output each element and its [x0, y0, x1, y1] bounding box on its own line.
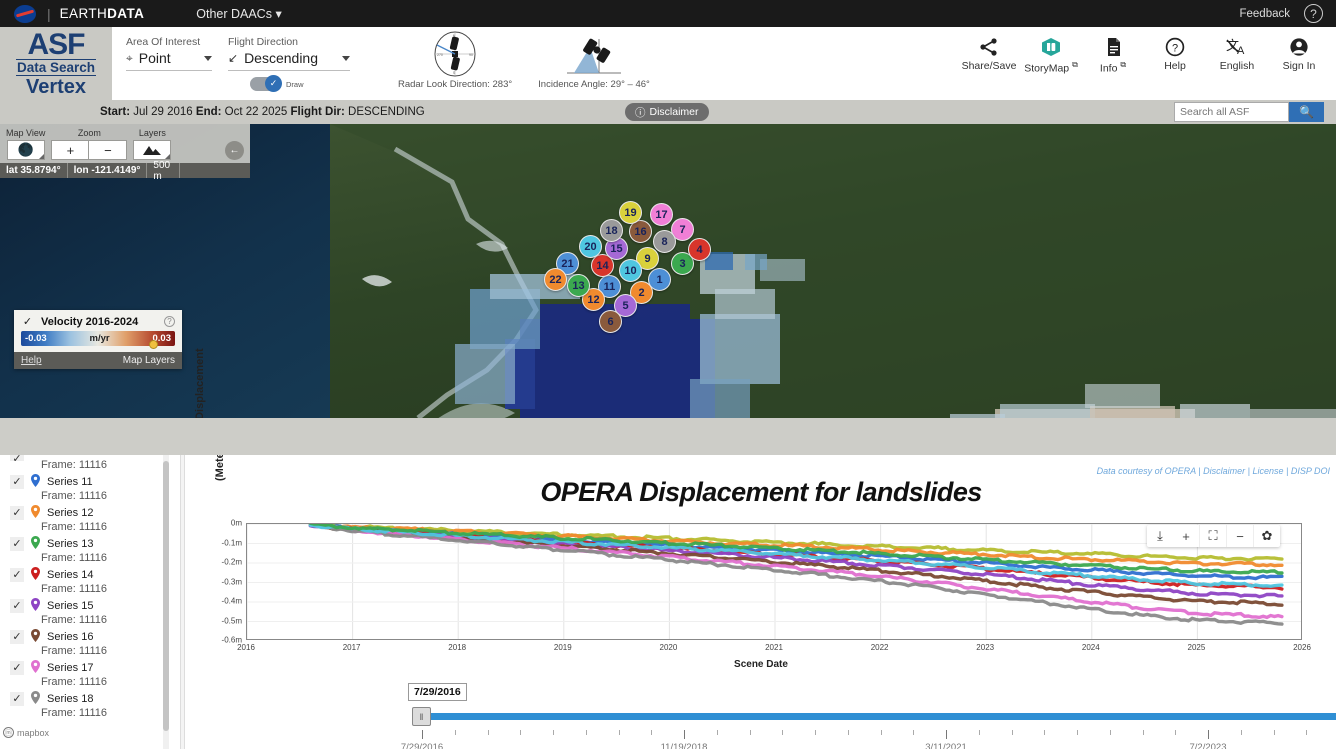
velocity-layer-checkbox[interactable]: ✓: [21, 315, 34, 328]
feedback-link[interactable]: Feedback: [1239, 8, 1290, 20]
x-axis-tick: 2022: [871, 643, 889, 652]
draw-label: Draw: [286, 80, 304, 89]
header-toolbar: Share/Save StoryMap ⧉ Info ⧉: [958, 27, 1336, 75]
velocity-gradient-wrapper: -0.03 m/yr 0.03: [14, 331, 182, 352]
velocity-layer-title: Velocity 2016-2024: [41, 316, 138, 328]
timeline-tick: [913, 730, 914, 735]
x-axis-tick: 2019: [554, 643, 572, 652]
plot-wrapper: ⤓+⛶−✿ 0m-0.1m-0.2m-0.3m-0.4m-0.5m-0.6m20…: [246, 523, 1302, 640]
radar-look-direction-widget: N S 270 90 Radar Look Direction: 283°: [398, 31, 512, 90]
series-frame-label: Frame: 11116: [10, 521, 172, 533]
series-pin-icon: [31, 629, 40, 644]
timeline-date-label: 7/29/2016: [401, 742, 443, 749]
velocity-unit-label: m/yr: [90, 333, 110, 344]
map-marker-22[interactable]: 22: [544, 268, 567, 291]
other-daacs-label: Other DAACs: [196, 7, 272, 21]
share-save-button[interactable]: Share/Save: [958, 37, 1020, 72]
flight-direction-label: Flight Direction: [228, 36, 350, 48]
series-pin-icon: [31, 536, 40, 551]
series-label: Series 12: [47, 507, 93, 519]
info-circle-icon: ⓘ: [635, 105, 646, 120]
date-range-slider: 7/29/2016 10/22/2025 ‖ ‖ 7/29/201611/19/…: [372, 683, 1336, 749]
y-axis-tick: 0m: [202, 519, 242, 528]
external-link-icon: ⧉: [1072, 60, 1078, 69]
timeline-date-label: 3/11/2021: [925, 742, 967, 749]
timeline-tick: [717, 730, 718, 735]
autoscale-icon[interactable]: ⛶: [1200, 525, 1227, 547]
series-list-item[interactable]: ✓Series 18Frame: 11116: [0, 688, 172, 719]
x-axis-tick: 2025: [1187, 643, 1205, 652]
search-icon: 🔍: [1299, 105, 1314, 119]
settings-gear-icon[interactable]: ✿: [1254, 525, 1280, 547]
help-label: Help: [1164, 60, 1186, 72]
descending-arrow-icon: ↙: [228, 51, 238, 65]
timeline-tick: [553, 730, 554, 735]
series-frame-label: Frame: 11116: [10, 676, 172, 688]
timeline-tick: [488, 730, 489, 735]
logo-vertex-text: Vertex: [26, 76, 86, 98]
x-axis-tick: 2024: [1082, 643, 1100, 652]
timeline-tick: [979, 730, 980, 735]
series-label: Series 16: [47, 631, 93, 643]
series-list-item[interactable]: ✓Series 11Frame: 11116: [0, 471, 172, 502]
series-row-main: ✓Series 14: [10, 564, 172, 585]
map-marker-17[interactable]: 17: [650, 203, 673, 226]
divider: |: [47, 6, 51, 22]
y-axis-tick: -0.4m: [202, 597, 242, 606]
displacement-line-chart: [247, 524, 1302, 640]
timeline-tick: [1044, 730, 1045, 735]
series-frame-label: Frame: 11116: [10, 614, 172, 626]
incidence-angle-caption: Incidence Angle: 29° – 46°: [538, 79, 650, 90]
zoom-group: Zoom + −: [51, 128, 127, 160]
geometry-diagrams: N S 270 90 Radar Look Direction: 283° In…: [398, 31, 650, 90]
help-circle-icon[interactable]: ?: [1304, 4, 1323, 23]
timeline-axis: 7/29/201611/19/20183/11/20217/2/202310/2…: [422, 730, 1336, 731]
x-axis-tick: 2023: [976, 643, 994, 652]
zoom-out-icon[interactable]: −: [1227, 525, 1254, 547]
map-view-group: Map View 🌑: [6, 128, 45, 160]
x-axis-tick: 2017: [343, 643, 361, 652]
series-checkbox[interactable]: ✓: [10, 692, 24, 706]
external-link-icon: ⧉: [1120, 60, 1126, 69]
panel-resize-divider[interactable]: [180, 455, 185, 749]
sign-in-button[interactable]: Sign In: [1268, 37, 1330, 72]
plot-toolbar: ⤓+⛶−✿: [1147, 525, 1280, 547]
translate-icon: 文 A: [1225, 37, 1249, 57]
bottom-panel: ✓Frame: 11116✓Series 11Frame: 11116✓Seri…: [0, 455, 1336, 749]
series-row-main: ✓Series 15: [10, 595, 172, 616]
logo-datasearch-text: Data Search: [16, 59, 96, 77]
storymap-button[interactable]: StoryMap ⧉: [1020, 37, 1082, 75]
map-controls-panel: Map View 🌑 Zoom + − Layers: [0, 124, 250, 178]
search-button[interactable]: 🔍: [1289, 102, 1324, 122]
series-frame-label: Frame: 11116: [10, 552, 172, 564]
timeline-tick: [1241, 730, 1242, 735]
series-row-main: ✓Series 13: [10, 533, 172, 554]
earthdata-bold: DATA: [107, 6, 144, 21]
series-checkbox[interactable]: ✓: [10, 506, 24, 520]
series-label: Series 13: [47, 538, 93, 550]
map-marker-4[interactable]: 4: [688, 238, 711, 261]
coordinate-readout-row: lat 35.8794° lon -121.4149° 500 m: [0, 163, 250, 178]
nasa-logo-icon: [14, 5, 36, 23]
x-axis-tick: 2020: [659, 643, 677, 652]
y-axis-tick: -0.1m: [202, 538, 242, 547]
timeline-tick: [1110, 730, 1111, 735]
flight-direction-value: Descending: [244, 50, 318, 66]
series-label: Series 11: [47, 476, 93, 488]
language-label: English: [1220, 60, 1254, 72]
series-pin-icon: [31, 691, 40, 706]
download-icon[interactable]: ⤓: [1147, 525, 1173, 547]
mapbox-label: mapbox: [17, 728, 49, 738]
timeline-tick: [684, 730, 685, 739]
series-list[interactable]: ✓Frame: 11116✓Series 11Frame: 11116✓Seri…: [0, 455, 172, 749]
zoom-in-icon[interactable]: +: [1173, 525, 1200, 547]
series-frame-label: Frame: 11116: [10, 490, 172, 502]
series-label: Series 17: [47, 662, 93, 674]
storymap-label: StoryMap ⧉: [1024, 60, 1078, 75]
y-axis-tick: -0.2m: [202, 558, 242, 567]
start-value: Jul 29 2016: [133, 106, 192, 118]
info-text: Info: [1100, 63, 1118, 75]
timeline-tick: [782, 730, 783, 735]
timeline-tick: [1143, 730, 1144, 735]
series-row-main: ✓Series 18: [10, 688, 172, 709]
series-checkbox[interactable]: ✓: [10, 537, 24, 551]
earthdata-light: EARTH: [60, 6, 108, 21]
mapbox-attribution[interactable]: ⓜ mapbox: [3, 727, 49, 738]
x-axis-tick: 2026: [1293, 643, 1311, 652]
map-layers-link[interactable]: Map Layers: [123, 355, 175, 366]
filter-bar: Area Of Interest ⌖ Point Flight Directio…: [112, 27, 1336, 100]
x-axis-tick: 2016: [237, 643, 255, 652]
timeline-tick: [1274, 730, 1275, 735]
svg-text:90: 90: [469, 53, 473, 57]
search-input[interactable]: [1174, 102, 1289, 122]
disclaimer-button[interactable]: ⓘ Disclaimer: [625, 103, 709, 121]
series-list-item[interactable]: ✓Series 13Frame: 11116: [0, 533, 172, 564]
incidence-angle-widget: Incidence Angle: 29° – 46°: [538, 31, 650, 90]
satellite-icon: [559, 31, 629, 77]
data-credits-links[interactable]: Data courtesy of OPERA | Disclaimer | Li…: [1097, 466, 1330, 476]
zoom-in-button[interactable]: +: [51, 140, 89, 160]
zoom-buttons: + −: [51, 140, 127, 160]
aoi-value: Point: [139, 50, 171, 66]
help-button[interactable]: ? Help: [1144, 37, 1206, 72]
x-axis-tick: 2021: [765, 643, 783, 652]
timeline-tick: [520, 730, 521, 735]
earthdata-bar-right: Feedback ?: [1239, 4, 1336, 23]
globe-icon: 🌑: [18, 142, 34, 158]
layers-buttons: [133, 140, 171, 160]
series-label: Series 14: [47, 569, 93, 581]
series-list-item[interactable]: ✓Frame: 11116: [0, 455, 172, 471]
timeline-tick: [619, 730, 620, 735]
series-checkbox[interactable]: ✓: [10, 568, 24, 582]
plot-area[interactable]: [246, 523, 1302, 640]
timeline-tick: [1012, 730, 1013, 735]
velocity-color-scale[interactable]: -0.03 m/yr 0.03: [21, 331, 175, 346]
series-checkbox[interactable]: ✓: [10, 599, 24, 613]
timeline-tick: [455, 730, 456, 735]
y-axis-tick: -0.5m: [202, 616, 242, 625]
map-marker-6[interactable]: 6: [599, 310, 622, 333]
end-key: End:: [196, 106, 222, 118]
aoi-label: Area Of Interest: [126, 36, 212, 48]
map-marker-13[interactable]: 13: [567, 274, 590, 297]
timeline-tick: [1077, 730, 1078, 735]
series-checkbox[interactable]: ✓: [10, 630, 24, 644]
series-row-main: ✓Series 11: [10, 471, 172, 492]
chart-panel: Data courtesy of OPERA | Disclaimer | Li…: [186, 455, 1336, 749]
search-summary-strip: Start: Jul 29 2016 End: Oct 22 2025 Flig…: [0, 100, 1336, 124]
series-pin-icon: [31, 660, 40, 675]
layers-label: Layers: [139, 128, 166, 138]
timeline-tick: [946, 730, 947, 739]
latitude-readout: lat 35.8794°: [0, 163, 68, 178]
info-button[interactable]: Info ⧉: [1082, 37, 1144, 75]
draw-toggle[interactable]: [250, 77, 281, 91]
velocity-scale-handle[interactable]: [149, 340, 158, 349]
series-checkbox[interactable]: ✓: [10, 455, 24, 461]
terrain-layer-button[interactable]: [133, 140, 171, 160]
map-view-label: Map View: [6, 128, 45, 138]
timeline-handle-left[interactable]: ‖: [412, 707, 431, 726]
timeline-tick: [1208, 730, 1209, 739]
velocity-help-link[interactable]: Help: [21, 355, 42, 366]
start-key: Start:: [100, 106, 130, 118]
area-of-interest-filter: Area Of Interest ⌖ Point: [126, 36, 212, 71]
mountain-icon: [142, 144, 162, 156]
location-pin-icon: ⌖: [126, 51, 133, 66]
timeline-tick: [1306, 730, 1307, 735]
x-axis-tick: 2018: [448, 643, 466, 652]
end-value: Oct 22 2025: [225, 106, 288, 118]
velocity-layer-panel: ✓ Velocity 2016-2024 ? -0.03 m/yr 0.03 H…: [14, 310, 182, 369]
series-pin-icon: [31, 567, 40, 582]
other-daacs-menu[interactable]: Other DAACs ▾: [196, 6, 281, 21]
chevron-down-icon: [342, 56, 350, 61]
timeline-tick: [586, 730, 587, 735]
flight-direction-select[interactable]: ↙ Descending: [228, 50, 350, 71]
scale-spacer: [180, 163, 250, 178]
asf-header: ASF Data Search Vertex Area Of Interest …: [0, 27, 1336, 100]
account-icon: [1288, 37, 1310, 57]
timeline-tick: [848, 730, 849, 735]
velocity-panel-footer: Help Map Layers: [14, 352, 182, 369]
series-frame-label: Frame: 11116: [10, 459, 172, 471]
timeline-start-label: 7/29/2016: [408, 683, 467, 701]
map-controls-row: Map View 🌑 Zoom + − Layers: [0, 124, 250, 163]
timeline-tick: [881, 730, 882, 735]
layers-group: Layers: [133, 128, 171, 160]
timeline-tick: [651, 730, 652, 735]
zoom-out-button[interactable]: −: [89, 140, 127, 160]
timeline-tick: [750, 730, 751, 735]
earthdata-wordmark: EARTHDATA: [60, 6, 145, 21]
series-checkbox[interactable]: ✓: [10, 661, 24, 675]
x-axis-label: Scene Date: [186, 659, 1336, 670]
latitude-value: lat 35.8794°: [6, 165, 61, 176]
chart-title: OPERA Displacement for landslides: [186, 477, 1336, 508]
series-pin-icon: [31, 474, 40, 489]
svg-text:A: A: [1237, 45, 1245, 57]
y-axis-tick: -0.6m: [202, 636, 242, 645]
series-label: Series 15: [47, 600, 93, 612]
series-list-scrollbar-thumb[interactable]: [163, 461, 169, 731]
compass-icon: N S 270 90: [429, 31, 481, 77]
draw-toggle-row: Draw: [250, 77, 304, 91]
timeline-date-label: 7/2/2023: [1190, 742, 1227, 749]
series-frame-label: Frame: 11116: [10, 707, 172, 719]
series-row-main: ✓Series 17: [10, 657, 172, 678]
global-search: 🔍: [1174, 102, 1324, 122]
collapse-panel-button[interactable]: ←: [225, 141, 244, 160]
storymap-text: StoryMap: [1024, 63, 1069, 75]
logo-asf-text: ASF: [28, 31, 85, 59]
panel-splitter[interactable]: [0, 418, 1336, 455]
series-frame-label: Frame: 11116: [10, 583, 172, 595]
document-icon: [1102, 37, 1124, 57]
series-label: Series 18: [47, 693, 93, 705]
series-list-item[interactable]: ✓Series 15Frame: 11116: [0, 595, 172, 626]
scale-readout: 500 m: [147, 163, 180, 178]
map-marker-10[interactable]: 10: [619, 259, 642, 282]
flight-dir-key: Flight Dir:: [291, 106, 345, 118]
map-marker-20[interactable]: 20: [579, 235, 602, 258]
question-circle-icon[interactable]: ?: [164, 316, 175, 327]
velocity-min-value: -0.03: [25, 333, 47, 344]
chevron-down-icon: [204, 56, 212, 61]
timeline-tick: [1175, 730, 1176, 735]
sign-in-label: Sign In: [1283, 60, 1316, 72]
series-list-item[interactable]: ✓Series 16Frame: 11116: [0, 626, 172, 657]
mapbox-logo-icon: ⓜ: [3, 727, 14, 738]
timeline-tick: [815, 730, 816, 735]
asf-vertex-logo[interactable]: ASF Data Search Vertex: [0, 27, 112, 100]
storymap-icon: [1040, 37, 1062, 57]
series-row-main: ✓Series 12: [10, 502, 172, 523]
longitude-value: lon -121.4149°: [74, 165, 141, 176]
timeline-date-label: 11/19/2018: [661, 742, 708, 749]
svg-text:?: ?: [1172, 43, 1178, 55]
series-list-item[interactable]: ✓Series 17Frame: 11116: [0, 657, 172, 688]
series-pin-icon: [31, 598, 40, 613]
series-frame-label: Frame: 11116: [10, 645, 172, 657]
svg-text:270: 270: [437, 53, 443, 57]
velocity-layer-header: ✓ Velocity 2016-2024 ?: [14, 310, 182, 331]
map-marker-19[interactable]: 19: [619, 201, 642, 224]
map-view-buttons: 🌑: [7, 140, 45, 160]
longitude-readout: lon -121.4149°: [68, 163, 148, 178]
question-circle-icon: ?: [1164, 37, 1186, 57]
earthdata-top-bar: | EARTHDATA Other DAACs ▾ Feedback ?: [0, 0, 1336, 27]
globe-view-button[interactable]: 🌑: [7, 140, 45, 160]
language-button[interactable]: 文 A English: [1206, 37, 1268, 72]
zoom-label: Zoom: [78, 128, 101, 138]
radar-look-caption: Radar Look Direction: 283°: [398, 79, 512, 90]
flight-direction-filter: Flight Direction ↙ Descending: [228, 36, 350, 71]
map-marker-8[interactable]: 8: [653, 230, 676, 253]
timeline-tick: [422, 730, 423, 739]
share-save-label: Share/Save: [962, 60, 1017, 72]
series-pin-icon: [31, 505, 40, 520]
disclaimer-label: Disclaimer: [650, 106, 699, 118]
chevron-down-icon: ▾: [275, 7, 281, 21]
aoi-select[interactable]: ⌖ Point: [126, 50, 212, 71]
series-list-item[interactable]: ✓Series 12Frame: 11116: [0, 502, 172, 533]
info-label: Info ⧉: [1100, 60, 1126, 75]
series-list-item[interactable]: ✓Series 14Frame: 11116: [0, 564, 172, 595]
share-icon: [978, 37, 1000, 57]
map-marker-18[interactable]: 18: [600, 219, 623, 242]
flight-dir-value: DESCENDING: [348, 106, 425, 118]
y-axis-tick: -0.3m: [202, 577, 242, 586]
timeline-track[interactable]: [422, 713, 1336, 720]
series-checkbox[interactable]: ✓: [10, 475, 24, 489]
series-row-main: ✓Series 16: [10, 626, 172, 647]
